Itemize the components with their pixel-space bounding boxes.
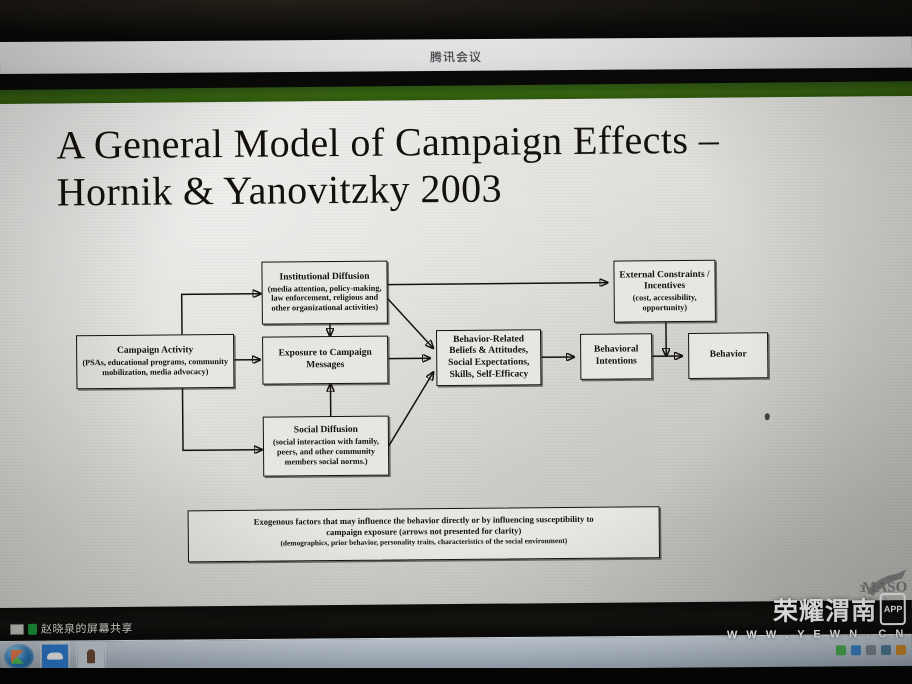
box-external-constraints-detail: (cost, accessibility, opportunity) — [619, 292, 711, 312]
windows-start-button-icon[interactable] — [4, 643, 34, 669]
box-institutional-diffusion: Institutional Diffusion (media attention… — [261, 261, 388, 325]
screen-share-indicator: 赵晓泉的屏幕共享 — [10, 620, 133, 637]
cloud-icon — [42, 644, 68, 668]
watermark-brand-row: 荣耀渭南 APP — [726, 591, 906, 628]
taskbar-item-cloud-app[interactable] — [40, 642, 70, 670]
box-institutional-diffusion-heading: Institutional Diffusion — [279, 272, 369, 284]
slide-title: A General Model of Campaign Effects – Ho… — [56, 115, 837, 216]
box-exposure-to-campaign-messages: Exposure to Campaign Messages — [262, 336, 388, 385]
box-behavioral-intentions: Behavioral Intentions — [580, 333, 652, 380]
box-social-diffusion: Social Diffusion (social interaction wit… — [263, 416, 390, 477]
mouse-cursor — [765, 413, 770, 420]
watermark: 荣耀渭南 APP W W W . Y E W N . C N — [726, 591, 906, 641]
box-external-constraints-heading: External Constraints / Incentives — [618, 269, 710, 293]
box-exposure-heading: Exposure to Campaign Messages — [267, 348, 383, 372]
box-behavioral-intentions-heading: Behavioral Intentions — [585, 345, 647, 369]
watermark-brand: 荣耀渭南 — [773, 591, 877, 628]
box-campaign-activity-detail: (PSAs, educational programs, community m… — [81, 357, 229, 378]
watermark-url: W W W . Y E W N . C N — [727, 628, 906, 641]
monitor-bezel-top — [0, 0, 912, 42]
taskbar-item-person-app[interactable] — [76, 642, 106, 670]
box-campaign-activity: Campaign Activity (PSAs, educational pro… — [76, 334, 234, 389]
tray-icon-orange[interactable] — [896, 644, 906, 654]
box-behavior-heading: Behavior — [710, 350, 747, 362]
tray-icon-blue[interactable] — [851, 645, 861, 655]
box-behavior: Behavior — [688, 332, 768, 379]
box-institutional-diffusion-detail: (media attention, policy-making, law enf… — [267, 283, 383, 314]
svg-text:GEO: GEO — [887, 575, 898, 580]
box-behavior-related-beliefs: Behavior-Related Beliefs & Attitudes, So… — [436, 329, 541, 386]
system-tray[interactable] — [836, 644, 906, 655]
tray-icon-gray[interactable] — [866, 645, 876, 655]
box-exogenous-factors: Exogenous factors that may influence the… — [188, 506, 660, 562]
tray-icon-green[interactable] — [836, 645, 846, 655]
monitor-screen: 腾讯会议 A General Model of Campaign Effects… — [0, 0, 912, 684]
monitor-bezel-bottom — [0, 668, 912, 684]
slide-title-line-2: Hornik & Yanovitzky 2003 — [57, 162, 837, 216]
watermark-app-badge-icon: APP — [880, 593, 906, 625]
powerpoint-slide: A General Model of Campaign Effects – Ho… — [0, 96, 912, 616]
box-external-constraints: External Constraints / Incentives (cost,… — [613, 260, 716, 323]
campaign-effects-diagram: Campaign Activity (PSAs, educational pro… — [0, 236, 912, 614]
box-campaign-activity-heading: Campaign Activity — [117, 346, 193, 358]
slide-title-line-1: A General Model of Campaign Effects – — [56, 115, 836, 169]
tray-icon-teal[interactable] — [881, 645, 891, 655]
person-icon — [78, 644, 104, 668]
monitor-icon — [10, 623, 24, 634]
box-social-diffusion-detail: (social interaction with family, peers, … — [268, 437, 384, 468]
box-behavior-related-heading: Behavior-Related Beliefs & Attitudes, So… — [441, 334, 536, 381]
share-arrow-icon — [28, 623, 37, 634]
screen-share-label: 赵晓泉的屏幕共享 — [41, 620, 133, 637]
box-social-diffusion-heading: Social Diffusion — [294, 425, 358, 437]
